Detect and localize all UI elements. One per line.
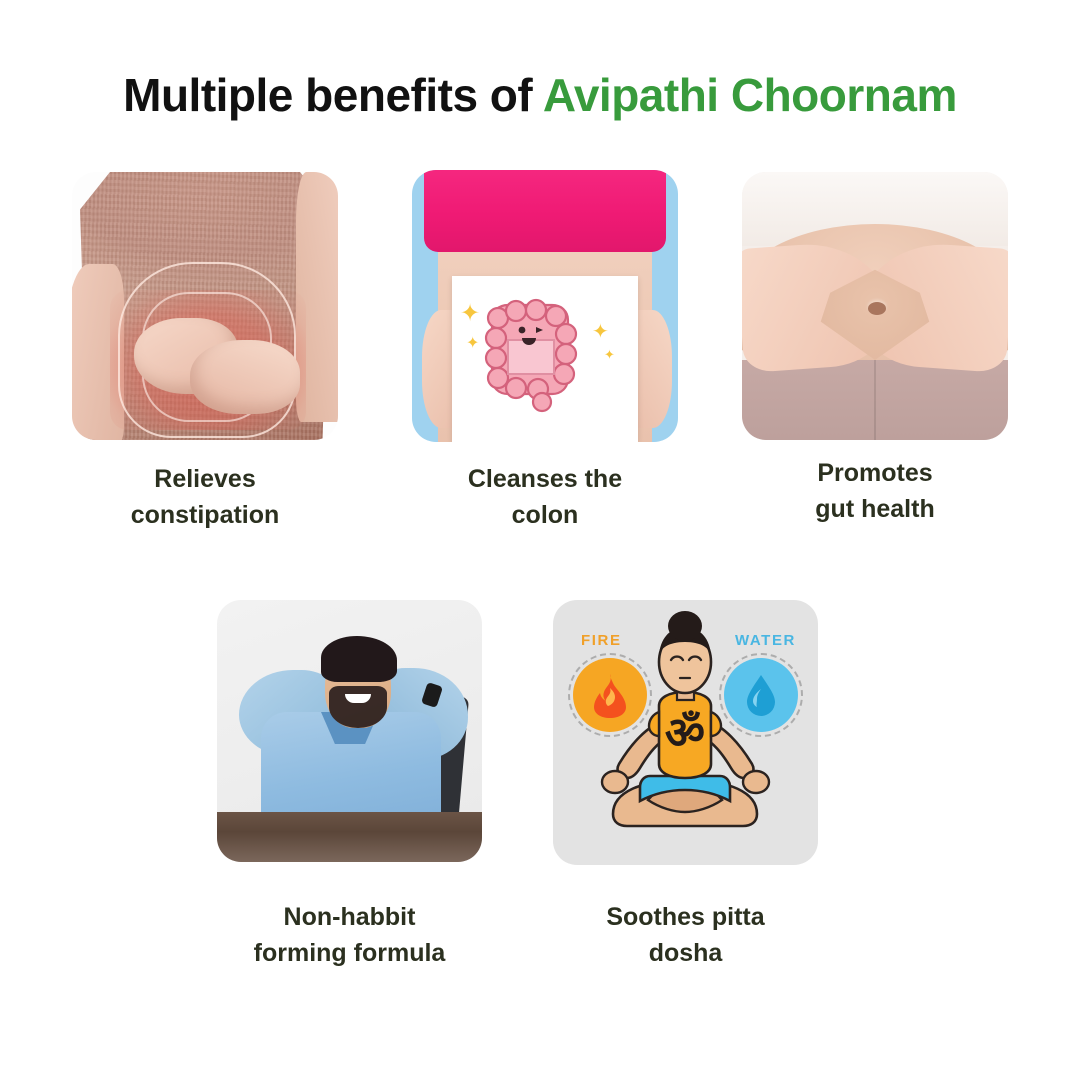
caption-line-2: constipation — [72, 498, 338, 534]
cartoon-intestine-icon — [478, 296, 582, 414]
benefit-image-cleanses-the-colon: ✦ ✦ ✦ ✦ — [412, 170, 678, 442]
benefit-image-promotes-gut-health — [742, 172, 1008, 440]
caption-line-1: Cleanses the — [412, 462, 678, 498]
wooden-desk — [217, 812, 482, 862]
pink-crop-top-shape — [424, 170, 666, 252]
right-hand-shape — [190, 340, 300, 414]
sparkle-icon: ✦ — [460, 302, 480, 326]
benefit-caption-promotes-gut-health: Promotes gut health — [742, 456, 1008, 527]
leggings-seam — [874, 360, 876, 440]
caption-line-1: Non-habbit — [217, 900, 482, 936]
caption-line-1: Relieves — [72, 462, 338, 498]
caption-line-1: Promotes — [742, 456, 1008, 492]
page-title: Multiple benefits of Avipathi Choornam — [0, 68, 1080, 122]
navel — [868, 302, 886, 315]
page-title-plain: Multiple benefits of — [123, 69, 532, 121]
benefit-caption-relieves-constipation: Relieves constipation — [72, 462, 338, 533]
benefit-image-soothes-pitta-dosha: FIRE WATER — [553, 600, 818, 865]
benefit-caption-soothes-pitta-dosha: Soothes pitta dosha — [553, 900, 818, 971]
benefit-caption-non-habbit-forming-formula: Non-habbit forming formula — [217, 900, 482, 971]
page-title-accent: Avipathi Choornam — [543, 69, 957, 121]
sparkle-icon: ✦ — [604, 348, 615, 361]
benefit-image-relieves-constipation — [72, 172, 338, 440]
om-symbol-icon: ॐ — [665, 708, 705, 759]
hair-shape — [321, 636, 397, 682]
caption-line-1: Soothes pitta — [553, 900, 818, 936]
benefit-image-non-habbit-forming-formula — [217, 600, 482, 862]
beard-shape — [329, 686, 387, 728]
meditating-woman-illustration: ॐ — [553, 600, 818, 865]
benefit-caption-cleanses-the-colon: Cleanses the colon — [412, 462, 678, 533]
caption-line-2: gut health — [742, 492, 1008, 528]
caption-line-2: colon — [412, 498, 678, 534]
sparkle-icon: ✦ — [466, 336, 479, 352]
sparkle-icon: ✦ — [592, 322, 609, 342]
caption-line-2: forming formula — [217, 936, 482, 972]
caption-line-2: dosha — [553, 936, 818, 972]
